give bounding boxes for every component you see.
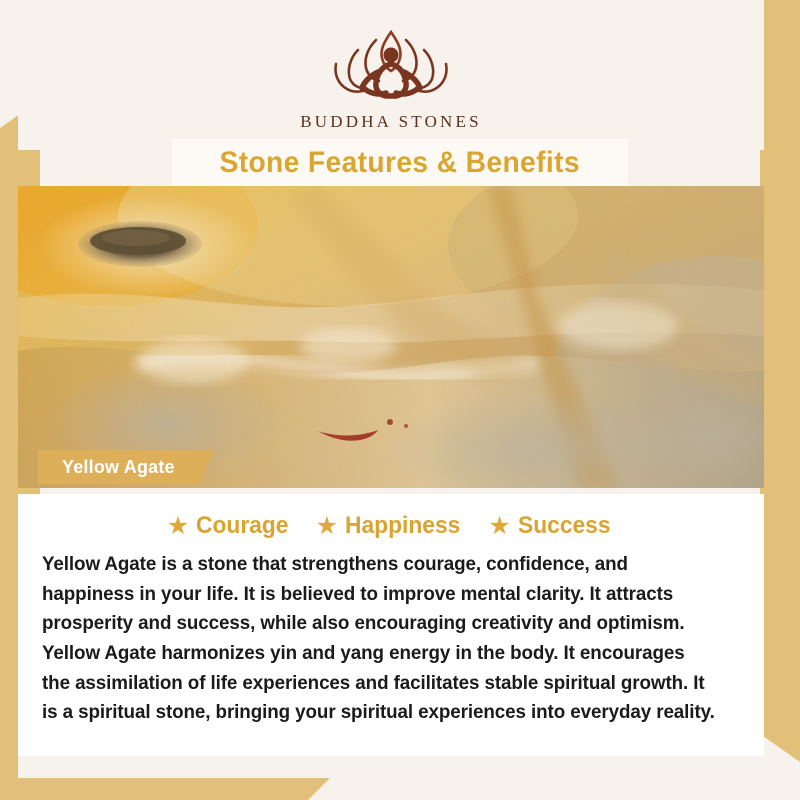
star-icon: ★ <box>316 514 338 539</box>
star-icon: ★ <box>167 514 189 539</box>
lotus-meditation-icon <box>316 22 466 106</box>
gold-border-bar-right <box>760 0 800 762</box>
star-icon: ★ <box>488 514 510 539</box>
benefit-item: ★ Success <box>488 512 615 540</box>
page-title: Stone Features & Benefits <box>220 146 580 180</box>
brand-name: BUDDHA STONES <box>300 112 482 132</box>
content-panel: ★ Courage ★ Happiness ★ Success Yellow A… <box>18 494 764 756</box>
benefit-label: Success <box>518 512 611 540</box>
stone-name-text: Yellow Agate <box>62 457 175 478</box>
stone-name-label: Yellow Agate <box>38 450 215 484</box>
benefit-item: ★ Happiness <box>316 512 467 540</box>
yellow-agate-image <box>18 186 764 488</box>
brand-header: BUDDHA STONES <box>18 0 764 150</box>
gold-corner-bar-bottom-left <box>0 778 330 800</box>
product-info-card: BUDDHA STONES Stone Features & Benefits <box>0 0 800 800</box>
benefit-item: ★ Courage <box>167 512 294 540</box>
benefit-label: Happiness <box>345 512 460 540</box>
footer-strip <box>18 756 764 778</box>
stone-description: Yellow Agate is a stone that strengthens… <box>42 550 716 728</box>
title-banner: Stone Features & Benefits <box>172 139 628 186</box>
stone-photo <box>18 186 764 488</box>
benefit-label: Courage <box>196 512 288 540</box>
benefits-row: ★ Courage ★ Happiness ★ Success <box>40 512 742 540</box>
